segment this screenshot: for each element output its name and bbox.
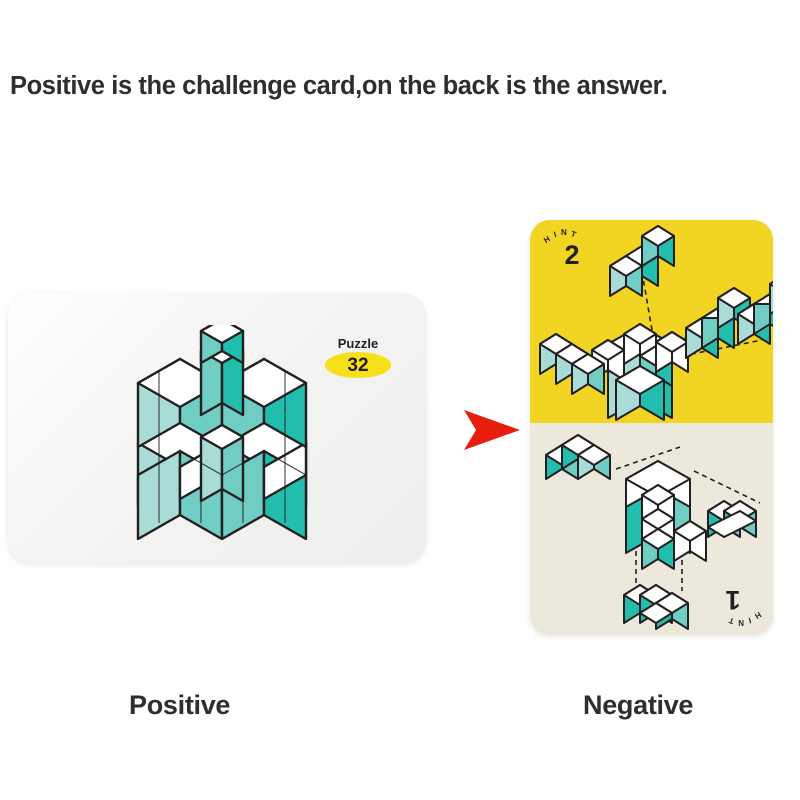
puzzle-badge: Puzzle 32 bbox=[322, 336, 394, 378]
puzzle-label: Puzzle bbox=[322, 336, 394, 351]
puzzle-number-oval: 32 bbox=[325, 352, 391, 378]
flip-arrow-icon bbox=[462, 404, 524, 456]
caption-positive: Positive bbox=[129, 690, 230, 721]
puzzle-number: 32 bbox=[347, 356, 368, 375]
exploded-diagram-hint-1 bbox=[530, 423, 773, 635]
page-title: Positive is the challenge card,on the ba… bbox=[10, 57, 792, 115]
caption-negative: Negative bbox=[583, 690, 693, 721]
exploded-diagram-hint-2 bbox=[530, 220, 773, 423]
isometric-cube-illustration bbox=[120, 325, 330, 540]
answer-card-back[interactable]: H I N T 2 H I N T 1 bbox=[530, 220, 773, 635]
screenshot-stage: Positive is the challenge card,on the ba… bbox=[0, 0, 800, 800]
challenge-card-front[interactable] bbox=[8, 293, 426, 563]
